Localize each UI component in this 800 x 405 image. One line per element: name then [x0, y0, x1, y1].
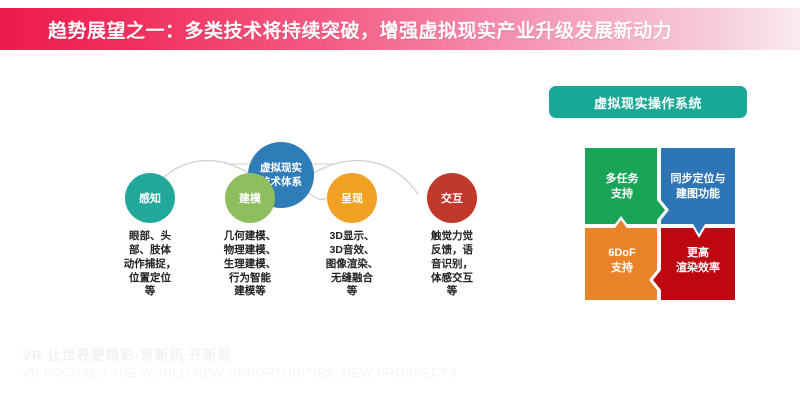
quadrant-label-line: 6DoF [587, 246, 657, 261]
vr-os-quadrant-grid: 多任务 支持 同步定位与 建图功能 6DoF 支持 更高 渲染效率 [585, 148, 735, 300]
desc-line: 体感交互 [398, 272, 506, 286]
footer-watermark: VR 让世界更精彩·育新机 开新局 VR FOCUSES THE WORLD N… [22, 345, 622, 380]
node-interaction-label: 交互 [441, 190, 463, 206]
quadrant-label-line: 多任务 [587, 172, 657, 187]
desc-line: 几何建模、 [196, 230, 304, 244]
quadrant-bottom-right-label: 更高 渲染效率 [663, 246, 733, 276]
vr-os-panel: 虚拟现实操作系统 多任务 支持 同步定位与 建图功能 [540, 78, 800, 318]
node-modeling-bubble[interactable]: 建模 [225, 173, 275, 223]
node-interaction[interactable]: 交互 触觉力觉 反馈，语 音识别， 体感交互 等 [398, 173, 506, 299]
desc-line: 无缝融合 [298, 272, 406, 286]
vr-os-title-pill[interactable]: 虚拟现实操作系统 [549, 86, 747, 118]
desc-line: 等 [298, 285, 406, 299]
desc-line: 位置定位 [96, 272, 204, 286]
desc-line: 建模等 [196, 285, 304, 299]
quadrant-label-line: 建图功能 [663, 187, 733, 202]
desc-line: 触觉力觉 [398, 230, 506, 244]
node-modeling-description: 几何建模、 物理建模、 生理建模、 行为智能 建模等 [196, 230, 304, 299]
desc-line: 3D显示、 [298, 230, 406, 244]
node-interaction-bubble[interactable]: 交互 [427, 173, 477, 223]
desc-line: 生理建模、 [196, 258, 304, 272]
quadrant-bottom-left-label: 6DoF 支持 [587, 246, 657, 276]
vr-os-title-label: 虚拟现实操作系统 [594, 93, 702, 112]
node-presentation[interactable]: 呈现 3D显示、 3D音效、 图像渲染、 无缝融合 等 [298, 173, 406, 299]
node-perception[interactable]: 感知 眼部、头 部、肢体 动作捕捉， 位置定位 等 [96, 173, 204, 299]
desc-line: 音识别， [398, 258, 506, 272]
quadrant-label-line: 支持 [587, 261, 657, 276]
node-perception-description: 眼部、头 部、肢体 动作捕捉， 位置定位 等 [96, 230, 204, 299]
node-presentation-description: 3D显示、 3D音效、 图像渲染、 无缝融合 等 [298, 230, 406, 299]
footer-chinese-tagline: VR 让世界更精彩·育新机 开新局 [22, 345, 622, 365]
vr-technology-diagram: 虚拟现实 技术体系 感知 眼部、头 部、肢体 动作捕捉， 位置定位 等 建模 几… [0, 56, 520, 326]
quadrant-label-line: 更高 [663, 246, 733, 261]
quadrant-top-left-label: 多任务 支持 [587, 172, 657, 202]
quadrant-top-right-label: 同步定位与 建图功能 [663, 172, 733, 202]
desc-line: 行为智能 [196, 272, 304, 286]
quadrant-label-line: 渲染效率 [663, 261, 733, 276]
header-banner: 趋势展望之一：多类技术将持续突破，增强虚拟现实产业升级发展新动力 [0, 8, 800, 50]
slide-root: 趋势展望之一：多类技术将持续突破，增强虚拟现实产业升级发展新动力 虚拟现实 技术… [0, 0, 800, 405]
desc-line: 反馈，语 [398, 244, 506, 258]
desc-line: 部、肢体 [96, 244, 204, 258]
quadrant-label-line: 同步定位与 [663, 172, 733, 187]
desc-line: 物理建模、 [196, 244, 304, 258]
node-perception-bubble[interactable]: 感知 [125, 173, 175, 223]
footer-english-tagline: VR FOCUSES THE WORLD NEW OPPORTUNITIES, … [22, 366, 622, 380]
node-modeling-label: 建模 [239, 190, 261, 206]
desc-line: 动作捕捉， [96, 258, 204, 272]
node-modeling[interactable]: 建模 几何建模、 物理建模、 生理建模、 行为智能 建模等 [196, 173, 304, 299]
desc-line: 3D音效、 [298, 244, 406, 258]
node-presentation-label: 呈现 [341, 190, 363, 206]
desc-line: 图像渲染、 [298, 258, 406, 272]
desc-line: 等 [398, 285, 506, 299]
node-interaction-description: 触觉力觉 反馈，语 音识别， 体感交互 等 [398, 230, 506, 299]
page-title: 趋势展望之一：多类技术将持续突破，增强虚拟现实产业升级发展新动力 [48, 16, 672, 43]
quadrant-label-line: 支持 [587, 187, 657, 202]
node-perception-label: 感知 [139, 190, 161, 206]
node-presentation-bubble[interactable]: 呈现 [327, 173, 377, 223]
desc-line: 眼部、头 [96, 230, 204, 244]
desc-line: 等 [96, 285, 204, 299]
